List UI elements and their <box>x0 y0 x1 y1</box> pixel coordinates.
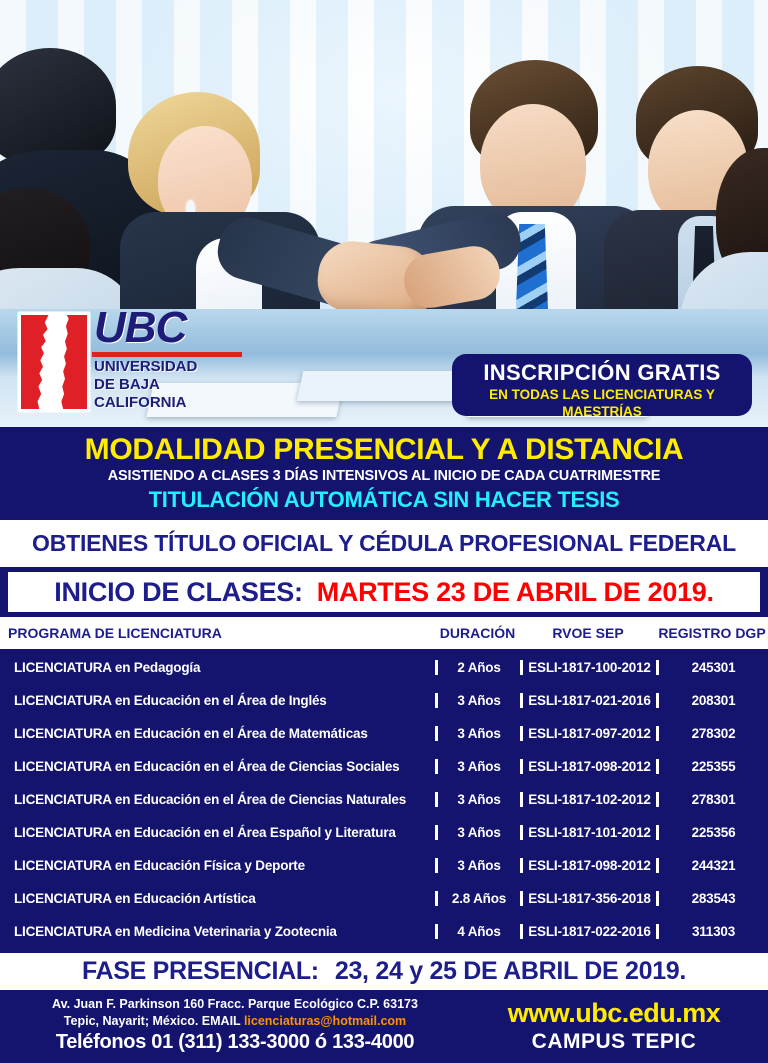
table-header-duracion: DURACIÓN <box>435 625 520 641</box>
logo-red-rule <box>92 352 242 357</box>
cell-registro: 278302 <box>656 726 768 741</box>
logo-subtitle: UNIVERSIDAD DE BAJA CALIFORNIA <box>94 358 264 412</box>
cell-programa: LICENCIATURA en Educación en el Área Esp… <box>0 825 435 840</box>
cell-registro: 225355 <box>656 759 768 774</box>
logo-acronym: UBC <box>94 306 186 350</box>
footer-phones: Teléfonos 01 (311) 133-3000 ó 133-4000 <box>10 1030 460 1055</box>
cell-rvoe: ESLI-1817-101-2012 <box>520 825 656 840</box>
table-row: LICENCIATURA en Medicina Veterinaria y Z… <box>0 916 768 946</box>
cell-programa: LICENCIATURA en Pedagogía <box>0 660 435 675</box>
table-row: LICENCIATURA en Educación en el Área Esp… <box>0 817 768 847</box>
obtienes-band: OBTIENES TÍTULO OFICIAL Y CÉDULA PROFESI… <box>0 520 768 567</box>
badge-title: INSCRIPCIÓN GRATIS <box>452 360 752 386</box>
cell-registro: 245301 <box>656 660 768 675</box>
table-header-registro: REGISTRO DGP <box>656 625 768 641</box>
table-row: LICENCIATURA en Educación Física y Depor… <box>0 850 768 880</box>
cell-rvoe: ESLI-1817-098-2012 <box>520 759 656 774</box>
headline-asistiendo: ASISTIENDO A CLASES 3 DÍAS INTENSIVOS AL… <box>0 467 768 486</box>
table-row: LICENCIATURA en Educación en el Área de … <box>0 784 768 814</box>
table-row: LICENCIATURA en Educación en el Área de … <box>0 685 768 715</box>
flyer-poster: UBC UNIVERSIDAD DE BAJA CALIFORNIA INSCR… <box>0 0 768 1063</box>
footer-address-line2: Tepic, Nayarit; México. EMAIL licenciatu… <box>10 1013 460 1030</box>
cell-registro: 311303 <box>656 924 768 939</box>
cell-registro: 244321 <box>656 858 768 873</box>
footer-campus: CAMPUS TEPIC <box>460 1029 768 1055</box>
cell-programa: LICENCIATURA en Educación en el Área de … <box>0 726 435 741</box>
inicio-date: MARTES 23 DE ABRIL DE 2019. <box>317 577 714 608</box>
table-body: LICENCIATURA en Pedagogía2 AñosESLI-1817… <box>0 649 768 979</box>
cell-rvoe: ESLI-1817-356-2018 <box>520 891 656 906</box>
footer-web-block: www.ubc.edu.mx CAMPUS TEPIC <box>460 990 768 1063</box>
footer-address-line2-pre: Tepic, Nayarit; México. EMAIL <box>64 1014 244 1028</box>
table-row: LICENCIATURA en Educación en el Área de … <box>0 718 768 748</box>
footer-bar: Av. Juan F. Parkinson 160 Fracc. Parque … <box>0 990 768 1063</box>
cell-rvoe: ESLI-1817-102-2012 <box>520 792 656 807</box>
cell-rvoe: ESLI-1817-100-2012 <box>520 660 656 675</box>
headline-titulacion: TITULACIÓN AUTOMÁTICA SIN HACER TESIS <box>0 486 768 514</box>
cell-duracion: 3 Años <box>435 693 520 708</box>
logo-subtitle-line2: DE BAJA <box>94 376 264 394</box>
cell-duracion: 3 Años <box>435 759 520 774</box>
table-row: LICENCIATURA en Educación Artística2.8 A… <box>0 883 768 913</box>
footer-contact-block: Av. Juan F. Parkinson 160 Fracc. Parque … <box>0 990 460 1063</box>
cell-programa: LICENCIATURA en Medicina Veterinaria y Z… <box>0 924 435 939</box>
programs-table: PROGRAMA DE LICENCIATURA DURACIÓN RVOE S… <box>0 617 768 950</box>
cell-registro: 278301 <box>656 792 768 807</box>
inicio-de-clases-box: INICIO DE CLASES: MARTES 23 DE ABRIL DE … <box>8 572 760 612</box>
cell-registro: 283543 <box>656 891 768 906</box>
ubc-logo: UBC UNIVERSIDAD DE BAJA CALIFORNIA <box>18 306 248 418</box>
table-row: LICENCIATURA en Pedagogía2 AñosESLI-1817… <box>0 652 768 682</box>
cell-duracion: 3 Años <box>435 825 520 840</box>
cell-programa: LICENCIATURA en Educación en el Área de … <box>0 792 435 807</box>
cell-rvoe: ESLI-1817-097-2012 <box>520 726 656 741</box>
cell-rvoe: ESLI-1817-021-2016 <box>520 693 656 708</box>
table-header-programa: PROGRAMA DE LICENCIATURA <box>0 625 435 641</box>
cell-duracion: 3 Años <box>435 792 520 807</box>
obtienes-text: OBTIENES TÍTULO OFICIAL Y CÉDULA PROFESI… <box>0 520 768 567</box>
badge-subtitle: EN TODAS LAS LICENCIATURAS Y MAESTRÍAS <box>452 386 752 420</box>
cell-duracion: 4 Años <box>435 924 520 939</box>
cell-duracion: 3 Años <box>435 858 520 873</box>
logo-subtitle-line1: UNIVERSIDAD <box>94 358 264 376</box>
cell-programa: LICENCIATURA en Educación Física y Depor… <box>0 858 435 873</box>
cell-duracion: 2 Años <box>435 660 520 675</box>
cell-rvoe: ESLI-1817-022-2016 <box>520 924 656 939</box>
cell-programa: LICENCIATURA en Educación en el Área de … <box>0 693 435 708</box>
fase-dates: 23, 24 y 25 DE ABRIL DE 2019. <box>335 957 686 986</box>
cell-duracion: 2.8 Años <box>435 891 520 906</box>
headline-band: MODALIDAD PRESENCIAL Y A DISTANCIA ASIST… <box>0 427 768 520</box>
inicio-label: INICIO DE CLASES: <box>54 577 302 608</box>
cell-rvoe: ESLI-1817-098-2012 <box>520 858 656 873</box>
cell-programa: LICENCIATURA en Educación en el Área de … <box>0 759 435 774</box>
footer-website[interactable]: www.ubc.edu.mx <box>460 998 768 1029</box>
table-row: LICENCIATURA en Educación en el Área de … <box>0 751 768 781</box>
baja-california-map-icon <box>18 312 90 412</box>
footer-address-line1: Av. Juan F. Parkinson 160 Fracc. Parque … <box>10 996 460 1013</box>
inscripcion-gratis-badge: INSCRIPCIÓN GRATIS EN TODAS LAS LICENCIA… <box>452 354 752 416</box>
logo-subtitle-line3: CALIFORNIA <box>94 394 264 412</box>
fase-presencial-band: FASE PRESENCIAL: 23, 24 y 25 DE ABRIL DE… <box>0 950 768 990</box>
cell-registro: 225356 <box>656 825 768 840</box>
cell-duracion: 3 Años <box>435 726 520 741</box>
cell-registro: 208301 <box>656 693 768 708</box>
cell-programa: LICENCIATURA en Educación Artística <box>0 891 435 906</box>
headline-modalidad: MODALIDAD PRESENCIAL Y A DISTANCIA <box>0 433 768 467</box>
table-header-rvoe: RVOE SEP <box>520 625 656 641</box>
inicio-de-clases-band: INICIO DE CLASES: MARTES 23 DE ABRIL DE … <box>0 567 768 617</box>
footer-email[interactable]: licenciaturas@hotmail.com <box>244 1014 406 1028</box>
fase-label: FASE PRESENCIAL: <box>82 957 319 986</box>
table-header-row: PROGRAMA DE LICENCIATURA DURACIÓN RVOE S… <box>0 617 768 649</box>
